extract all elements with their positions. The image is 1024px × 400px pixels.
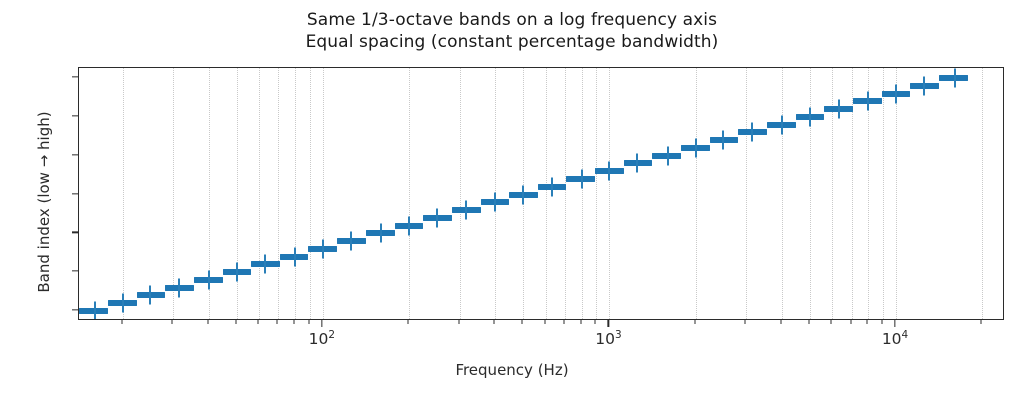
chart-figure: Same 1/3-octave bands on a log frequency… [0,0,1024,400]
gridline [409,68,411,319]
band-center-tick [608,162,610,181]
band-center-tick [322,239,324,258]
x-tick-minor [881,320,882,324]
x-tick-minor [207,320,208,324]
x-tick-minor [544,320,545,324]
band-center-tick [350,232,352,251]
band-center-tick [838,100,840,119]
band-center-tick [236,263,238,282]
band-center-tick [264,255,266,274]
y-axis-label: Band index (low → high) [35,72,53,332]
chart-title: Same 1/3-octave bands on a log frequency… [0,10,1024,32]
gridline [696,68,698,319]
band-center-tick [667,146,669,165]
band-center-tick [867,92,869,111]
plot-area [78,67,1004,320]
chart-title-block: Same 1/3-octave bands on a log frequency… [0,10,1024,54]
x-tick-minor [458,320,459,324]
gridline [310,68,312,319]
x-tick-minor [494,320,495,324]
band-center-tick [923,76,925,95]
band-center-tick [294,247,296,266]
x-axis: Frequency (Hz) 102103104 [0,320,1024,400]
band-center-tick [94,301,96,320]
gridline [896,68,898,319]
gridline [460,68,462,319]
gridline [782,68,784,319]
band-center-tick [551,177,553,196]
band-center-tick [809,107,811,126]
band-center-tick [751,123,753,142]
x-tick-minor [595,320,596,324]
band-center-tick [380,224,382,243]
x-tick-minor [780,320,781,324]
x-tick-minor [831,320,832,324]
band-center-tick [149,286,151,305]
x-tick-minor [867,320,868,324]
band-center-tick [408,216,410,235]
gridline [259,68,261,319]
x-tick-minor [121,320,122,324]
gridline [295,68,297,319]
x-tick-label: 103 [595,330,621,348]
band-center-tick [895,84,897,103]
x-axis-label: Frequency (Hz) [0,361,1024,379]
x-tick-minor [850,320,851,324]
band-center-tick [208,270,210,289]
x-tick-minor [564,320,565,324]
x-tick-label: 104 [882,330,908,348]
x-tick-major [321,320,322,327]
gridline [883,68,885,319]
gridline [565,68,567,319]
x-tick-minor [171,320,172,324]
x-tick-label: 102 [309,330,335,348]
x-tick-minor [408,320,409,324]
chart-subtitle: Equal spacing (constant percentage bandw… [0,32,1024,54]
band-center-tick [781,115,783,134]
band-center-tick [465,201,467,220]
band-center-tick [178,278,180,297]
x-tick-minor [308,320,309,324]
gridline [278,68,280,319]
band-center-tick [722,131,724,150]
gridline [582,68,584,319]
x-tick-major [608,320,609,327]
x-tick-minor [745,320,746,324]
band-center-tick [494,193,496,212]
gridline [596,68,598,319]
gridline [123,68,125,319]
band-center-tick [636,154,638,173]
gridline [546,68,548,319]
x-tick-minor [808,320,809,324]
gridline [810,68,812,319]
gridline [609,68,611,319]
x-tick-minor [522,320,523,324]
gridline [173,68,175,319]
band-center-tick [436,208,438,227]
x-tick-minor [694,320,695,324]
band-center-tick [581,169,583,188]
band-center-tick [954,69,956,88]
x-tick-minor [277,320,278,324]
x-tick-minor [981,320,982,324]
band-center-tick [122,294,124,313]
gridline [323,68,325,319]
x-tick-minor [294,320,295,324]
band-center-tick [522,185,524,204]
gridline [746,68,748,319]
x-tick-minor [235,320,236,324]
band-center-tick [695,138,697,157]
x-tick-major [894,320,895,327]
x-tick-minor [580,320,581,324]
gridline [982,68,984,319]
x-tick-minor [258,320,259,324]
